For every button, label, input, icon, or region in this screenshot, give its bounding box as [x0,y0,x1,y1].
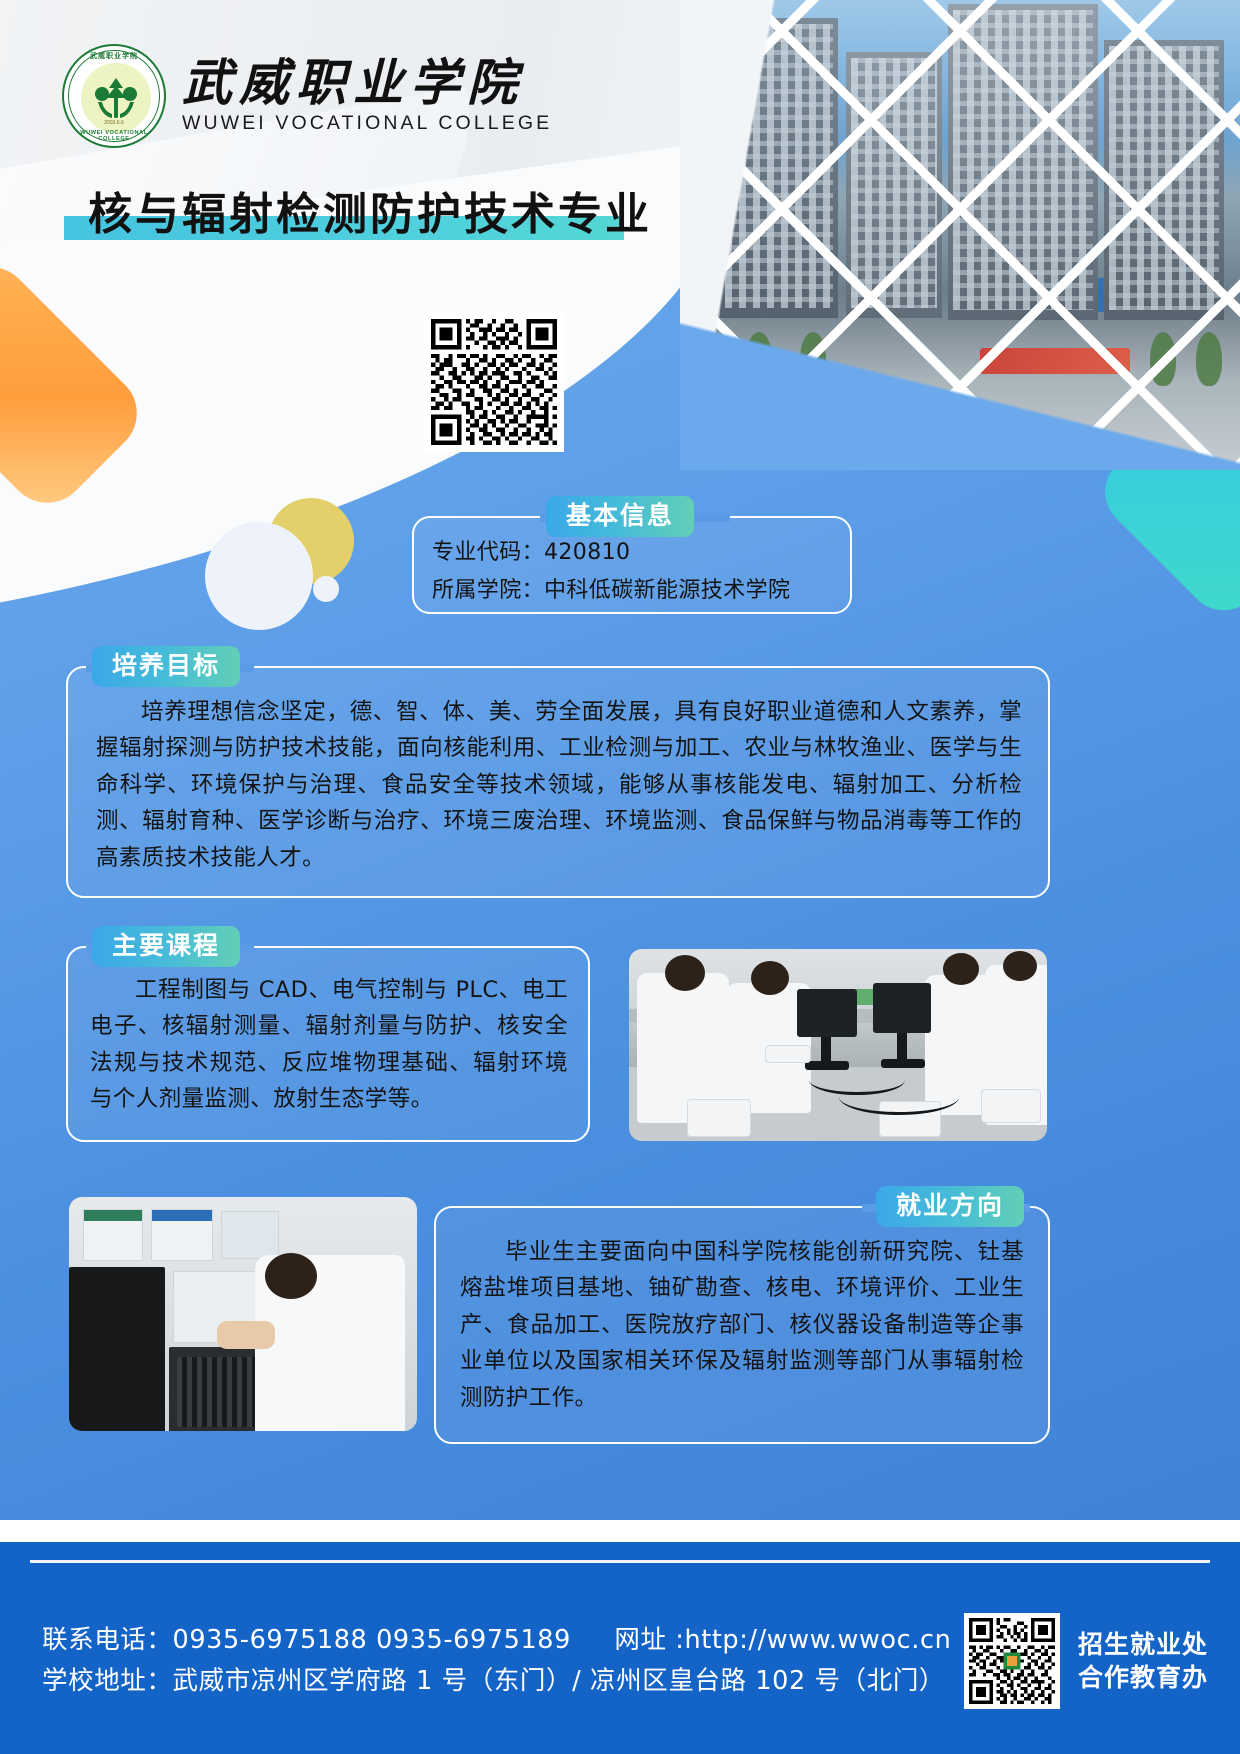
lab-photo-scene [629,949,1047,1141]
radiation-lab-photo [626,946,1050,1144]
wall-notice-board [221,1211,279,1259]
seal-arc-top-text: 武威职业学院 [64,51,164,61]
student-head [265,1253,317,1299]
footer-qr-label-2: 合作教育办 [1078,1661,1208,1695]
major-code-line: 专业代码：420810 [432,534,850,572]
footer-contact-block: 联系电话：0935-6975188 0935-6975189 网址 :http:… [42,1620,951,1703]
instrument-photo-scene [69,1197,417,1431]
footer-qr-block: 招生就业处 合作教育办 [964,1613,1208,1709]
training-goal-text: 培养理想信念坚定，德、智、体、美、劳全面发展，具有良好职业道德和人文素养，掌握辐… [96,694,1022,876]
basic-info-badge: 基本信息 [546,496,694,537]
student-head [1003,951,1037,981]
instrument-operation-photo [66,1194,420,1434]
tree-icon [90,72,142,124]
basic-info-card: 基本信息 专业代码：420810 所属学院：中科低碳新能源技术学院 [412,516,852,614]
campus-building-collage [680,0,1240,470]
student-hand [217,1321,275,1349]
sample-tray [765,1045,811,1063]
seal-year-text: 2003.6.6 [64,120,164,126]
training-goal-badge: 培养目标 [92,646,240,687]
training-goal-card: 培养目标 培养理想信念坚定，德、智、体、美、劳全面发展，具有良好职业道德和人文素… [66,666,1050,898]
college-name-cn: 武威职业学院 [182,57,552,110]
qr-code-icon[interactable] [424,312,564,452]
student-head [943,953,979,985]
main-courses-text: 工程制图与 CAD、电气控制与 PLC、电工电子、核辐射测量、辐射剂量与防护、核… [90,972,568,1118]
student-head [665,955,705,991]
employment-body: 毕业生主要面向中国科学院核能创新研究院、钍基熔盐堆项目基地、铀矿勘查、核电、环境… [436,1208,1048,1416]
monitor-screen [797,989,857,1037]
footer-gap [0,1520,1240,1542]
seal-arc-bottom-text: WUWEI VOCATIONAL COLLEGE [64,130,164,142]
monitor-screen [873,983,931,1033]
page-title: 核与辐射检测防护技术专业 [88,178,652,242]
decor-circle-dot [313,576,339,602]
main-courses-card: 主要课程 工程制图与 CAD、电气控制与 PLC、电工电子、核辐射测量、辐射剂量… [66,946,590,1142]
qr-code-icon[interactable] [964,1613,1060,1709]
cable [839,1079,959,1115]
footer-phone-line: 联系电话：0935-6975188 0935-6975189 网址 :http:… [42,1620,951,1661]
footer-address-line: 学校地址：武威市凉州区学府路 1 号（东门）/ 凉州区皇台路 102 号（北门） [42,1661,951,1702]
footer-website-text[interactable]: 网址 :http://www.wwoc.cn [614,1625,951,1655]
wall-notice-board [151,1209,213,1261]
footer-qr-labels: 招生就业处 合作教育办 [1078,1628,1208,1695]
decor-circle-white [205,522,313,630]
college-logo: 武威职业学院 20 [62,44,552,148]
footer-phone-text: 联系电话：0935-6975188 0935-6975189 [42,1625,571,1655]
monitor-stand [897,1033,907,1061]
main-courses-badge: 主要课程 [92,926,240,967]
equipment-cabinet [69,1267,165,1434]
monitor-base [881,1059,925,1068]
tree-seal-icon: 武威职业学院 20 [62,44,166,148]
student-head [751,961,789,995]
footer-divider [30,1560,1210,1563]
detector-instrument [687,1099,751,1137]
employment-text: 毕业生主要面向中国科学院核能创新研究院、钍基熔盐堆项目基地、铀矿勘查、核电、环境… [460,1234,1024,1416]
college-name-en: WUWEI VOCATIONAL COLLEGE [182,112,552,135]
poster-root: 武威职业学院 20 [0,0,1240,1754]
wall-notice-board [83,1209,143,1261]
training-goal-body: 培养理想信念坚定，德、智、体、美、劳全面发展，具有良好职业道德和人文素养，掌握辐… [68,668,1048,876]
footer-bar: 联系电话：0935-6975188 0935-6975189 网址 :http:… [0,1542,1240,1754]
main-courses-body: 工程制图与 CAD、电气控制与 PLC、电工电子、核辐射测量、辐射剂量与防护、核… [68,948,588,1118]
monitor-stand [821,1037,831,1063]
employment-badge: 就业方向 [876,1186,1024,1227]
employment-card: 就业方向 毕业生主要面向中国科学院核能创新研究院、钍基熔盐堆项目基地、铀矿勘查、… [434,1206,1050,1444]
college-line: 所属学院：中科低碳新能源技术学院 [432,572,850,610]
detector-instrument [981,1089,1041,1123]
footer-qr-label-1: 招生就业处 [1078,1628,1208,1662]
title-text: 核与辐射检测防护技术专业 [88,178,652,242]
collage-bottom-fade [680,262,1240,470]
